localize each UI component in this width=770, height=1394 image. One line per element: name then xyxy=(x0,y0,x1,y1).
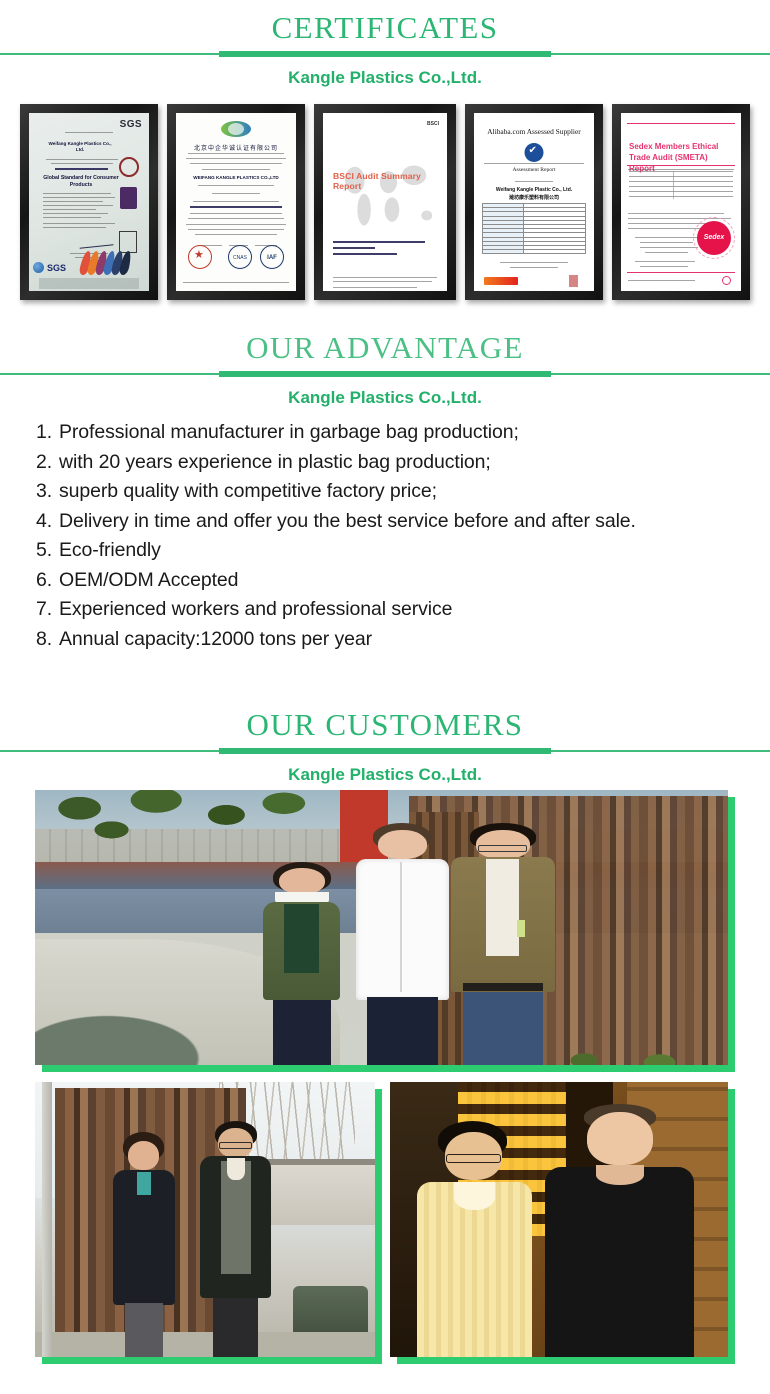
sedex-logo-icon: Sedex xyxy=(697,221,731,255)
bsci-logo-icon: BSCI xyxy=(427,121,439,127)
list-item-text: Eco-friendly xyxy=(59,536,742,566)
list-item: 8. Annual capacity:12000 tons per year xyxy=(36,625,742,655)
person-figure xyxy=(347,823,458,1065)
list-item: 4. Delivery in time and offer you the be… xyxy=(36,507,742,537)
customers-divider xyxy=(0,745,770,756)
signature-mark xyxy=(78,233,113,248)
sgs-logo-icon: SGS xyxy=(120,119,142,130)
certificate-title: Global Standard for Consumer Products xyxy=(43,175,119,189)
list-item: 2. with 20 years experience in plastic b… xyxy=(36,448,742,478)
list-item-number: 1. xyxy=(36,418,59,448)
divider-thick-line xyxy=(219,51,551,57)
list-item-number: 6. xyxy=(36,566,59,596)
verified-badge-icon xyxy=(525,143,544,162)
customer-photo-gallery: Three people standing outdoors in a gard… xyxy=(0,790,770,1357)
top-rule xyxy=(627,123,735,124)
person-figure xyxy=(250,862,354,1066)
certificates-section-header: CERTIFICATES Kangle Plastics Co.,Ltd. xyxy=(0,8,770,93)
certificates-divider xyxy=(0,48,770,59)
list-item-text: superb quality with competitive factory … xyxy=(59,477,742,507)
certificate-sgs-global-standard[interactable]: SGS Weifang Kangle Plastics Co., Ltd. Gl… xyxy=(20,104,158,300)
certification-body-logo-icon xyxy=(221,121,251,137)
list-item-number: 3. xyxy=(36,477,59,507)
advantage-list: 1. Professional manufacturer in garbage … xyxy=(0,418,770,654)
customer-photo-pair-indoors[interactable]: Two men standing indoors in a warmly lit… xyxy=(390,1082,728,1357)
list-item-text: Delivery in time and offer you the best … xyxy=(59,507,742,537)
list-item: 5. Eco-friendly xyxy=(36,536,742,566)
customers-subtitle: Kangle Plastics Co.,Ltd. xyxy=(0,760,770,790)
list-item-text: OEM/ODM Accepted xyxy=(59,566,742,596)
photo-content xyxy=(35,1082,375,1357)
list-item-text: Experienced workers and professional ser… xyxy=(59,595,742,625)
certificate-bsci-audit-summary[interactable]: BSCI BSCI Audit Summary Report xyxy=(314,104,456,300)
certificate-document: Sedex Members Ethical Trade Audit (SMETA… xyxy=(621,113,741,291)
certificate-company-name: Weifang Kangle Plastic Co., Ltd. xyxy=(480,187,588,193)
certificate-sedex-smeta[interactable]: Sedex Members Ethical Trade Audit (SMETA… xyxy=(612,104,750,300)
secondary-mark-icon xyxy=(120,187,137,209)
customers-section-header: OUR CUSTOMERS Kangle Plastics Co.,Ltd. xyxy=(0,705,770,790)
assessment-stamp-icon xyxy=(569,275,578,287)
cnas-mark-icon: CNAS xyxy=(228,245,252,269)
official-red-seal-icon xyxy=(188,245,212,269)
certificate-subtitle: Assessment Report xyxy=(480,167,588,173)
quality-mark-icon xyxy=(119,157,139,177)
customer-photo-row: A woman and a man standing outdoors in f… xyxy=(35,1082,728,1357)
customers-title: OUR CUSTOMERS xyxy=(0,705,770,745)
list-item-text: Annual capacity:12000 tons per year xyxy=(59,625,742,655)
certificate-company-name-cn: 北京中企华诚认证有限公司 xyxy=(184,143,288,152)
certificate-document: BSCI BSCI Audit Summary Report xyxy=(323,113,447,291)
divider-thick-line xyxy=(219,748,551,754)
person-figure xyxy=(444,823,562,1065)
certificate-title: Alibaba.com Assessed Supplier xyxy=(480,127,588,136)
certificate-document: Alibaba.com Assessed Supplier Assessment… xyxy=(474,113,594,291)
page-mark-icon xyxy=(722,276,731,285)
person-figure xyxy=(545,1104,694,1357)
list-item-number: 8. xyxy=(36,625,59,655)
list-item-number: 4. xyxy=(36,507,59,537)
audit-details-table xyxy=(629,171,733,201)
list-item-number: 2. xyxy=(36,448,59,478)
list-item-number: 7. xyxy=(36,595,59,625)
list-item: 6. OEM/ODM Accepted xyxy=(36,566,742,596)
advantage-divider xyxy=(0,368,770,379)
certificate-title: BSCI Audit Summary Report xyxy=(333,171,439,191)
certificates-subtitle: Kangle Plastics Co.,Ltd. xyxy=(0,63,770,93)
list-item: 1. Professional manufacturer in garbage … xyxy=(36,418,742,448)
divider-thick-line xyxy=(219,371,551,377)
certificate-company-name-cn: 潍坊康乐塑料有限公司 xyxy=(480,194,588,201)
assessment-table xyxy=(482,203,586,254)
list-item: 7. Experienced workers and professional … xyxy=(36,595,742,625)
list-item-text: with 20 years experience in plastic bag … xyxy=(59,448,742,478)
certificate-footer-band xyxy=(39,278,139,289)
mid-rule xyxy=(627,165,735,166)
certificate-company-name: WEIFANG KANGLE PLASTICS CO.,LTD xyxy=(184,175,288,180)
certificate-company-name: Weifang Kangle Plastics Co., Ltd. xyxy=(45,141,115,153)
list-item: 3. superb quality with competitive facto… xyxy=(36,477,742,507)
decorative-swoosh xyxy=(43,249,143,275)
advantage-title: OUR ADVANTAGE xyxy=(0,328,770,368)
advantage-subtitle: Kangle Plastics Co.,Ltd. xyxy=(0,383,770,413)
photo-content xyxy=(35,790,728,1065)
person-figure xyxy=(110,1132,178,1358)
certificates-title: CERTIFICATES xyxy=(0,8,770,48)
advantage-section-header: OUR ADVANTAGE Kangle Plastics Co.,Ltd. xyxy=(0,328,770,413)
iaf-mark-icon: IAF xyxy=(260,245,284,269)
certificate-alibaba-assessed-supplier[interactable]: Alibaba.com Assessed Supplier Assessment… xyxy=(465,104,603,300)
person-figure xyxy=(417,1121,532,1358)
list-item-text: Professional manufacturer in garbage bag… xyxy=(59,418,742,448)
certificate-iso-9001[interactable]: 北京中企华诚认证有限公司 WEIFANG KANGLE PLASTICS CO.… xyxy=(167,104,305,300)
customer-photo-pair-outdoors[interactable]: A woman and a man standing outdoors in f… xyxy=(35,1082,375,1357)
company-profile-page: CERTIFICATES Kangle Plastics Co.,Ltd. SG… xyxy=(0,0,770,1394)
bottom-rule xyxy=(627,272,735,273)
list-item-number: 5. xyxy=(36,536,59,566)
certificates-gallery: SGS Weifang Kangle Plastics Co., Ltd. Gl… xyxy=(0,104,770,304)
certificate-document: SGS Weifang Kangle Plastics Co., Ltd. Gl… xyxy=(29,113,149,291)
customer-photo-group-of-three-in-garden[interactable]: Three people standing outdoors in a gard… xyxy=(35,790,728,1065)
photo-content xyxy=(390,1082,728,1357)
person-figure xyxy=(198,1121,273,1358)
alibaba-logo-icon xyxy=(484,277,518,285)
certificate-document: 北京中企华诚认证有限公司 WEIFANG KANGLE PLASTICS CO.… xyxy=(176,113,296,291)
